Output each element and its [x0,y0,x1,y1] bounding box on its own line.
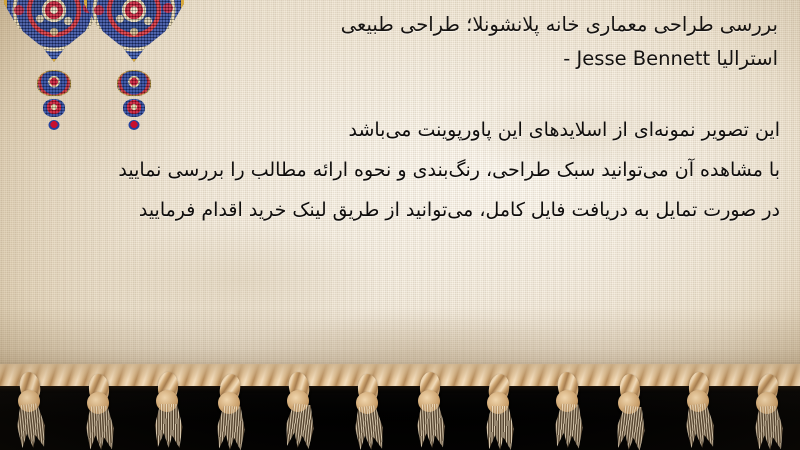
tassel-skirt [351,405,385,450]
slide-body: این تصویر نمونه‌ای از اسلایدهای این پاور… [10,111,780,231]
slide-title-line-2: استرالیا Jesse Bennett - [200,42,778,76]
tassel-skirt [154,404,184,448]
tassel-skirt [553,403,585,449]
tassel-skirt [683,403,717,450]
slide-body-line-2: با مشاهده آن می‌توانید سبک طراحی، رنگ‌بن… [10,151,780,191]
tassel-skirt [485,406,515,450]
slide-title: بررسی طراحی معماری خانه پلانشونلا؛ طراحی… [200,8,778,75]
tassel-skirt [283,403,317,450]
tasseled-fringe-border [0,358,800,450]
slide-body-line-1: این تصویر نمونه‌ای از اسلایدهای این پاور… [10,111,780,151]
slide-title-line-1: بررسی طراحی معماری خانه پلانشونلا؛ طراحی… [200,8,778,42]
tassel-row [0,372,800,450]
tassel-skirt [415,403,447,449]
slide-body-line-3: در صورت تمایل به دریافت فایل کامل، می‌تو… [10,191,780,231]
tassel-skirt [753,405,785,450]
presentation-slide: بررسی طراحی معماری خانه پلانشونلا؛ طراحی… [0,0,800,450]
tassel-skirt [614,405,648,450]
tassel-skirt [215,405,247,450]
tassel-skirt [14,403,48,450]
tassel-skirt [84,405,116,450]
